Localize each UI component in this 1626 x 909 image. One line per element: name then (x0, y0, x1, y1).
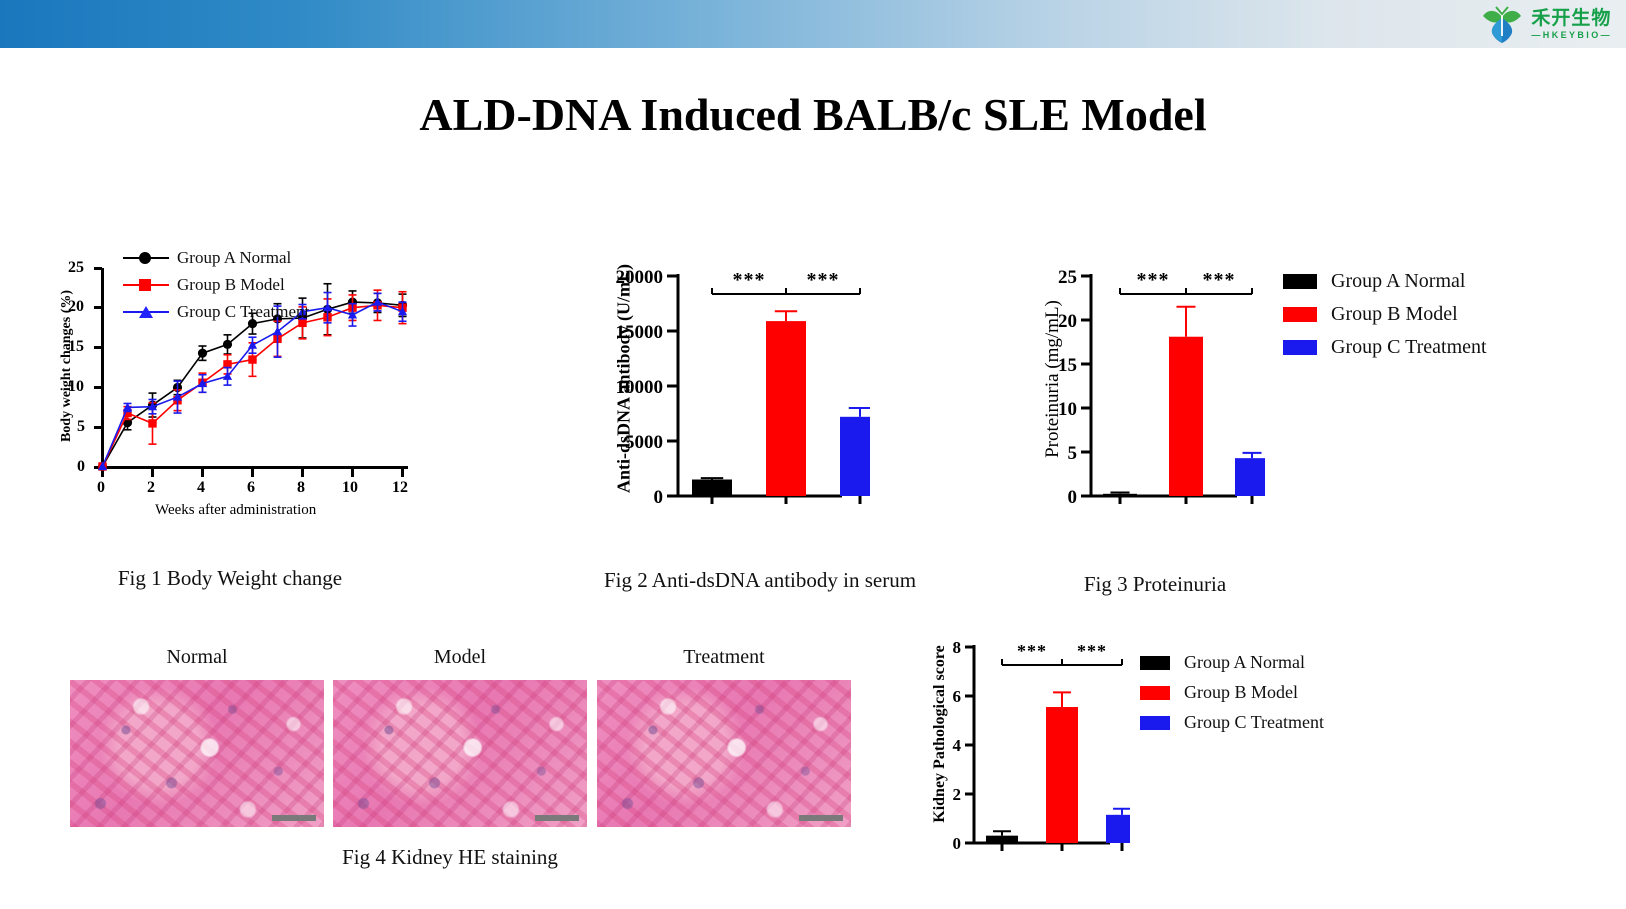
histology-label-model: Model (333, 646, 587, 669)
page-title: ALD-DNA Induced BALB/c SLE Model (0, 88, 1626, 141)
fig3-legend-swatch-red (1283, 307, 1317, 322)
histology-image-treatment (597, 680, 851, 827)
figure-4-kidney-score: Kidney Pathological score 02468****** (900, 615, 1130, 875)
company-logo: 禾开生物 —HKEYBIO— (1481, 4, 1612, 44)
figure-2-caption: Fig 2 Anti-dsDNA antibody in serum (560, 568, 960, 593)
svg-text:***: *** (807, 269, 840, 291)
svg-text:0: 0 (953, 834, 962, 853)
fig1-legend-key-square (123, 278, 169, 292)
fig3-legend-swatch-blue (1283, 340, 1317, 355)
svg-text:6: 6 (953, 687, 962, 706)
logo-chinese-name: 禾开生物 (1531, 9, 1612, 28)
fig1-legend: Group A Normal Group B Model Group C Tre… (123, 248, 309, 329)
svg-text:20: 20 (1058, 311, 1077, 332)
scale-bar (535, 815, 579, 821)
fig1-legend-key-circle (123, 251, 169, 265)
scale-bar (799, 815, 843, 821)
histology-image-model (333, 680, 587, 827)
histology-image-normal (70, 680, 324, 827)
figure-1-body-weight: Body weight changes (%) 0 5 10 15 20 25 … (35, 240, 455, 530)
figure-1-caption: Fig 1 Body Weight change (70, 566, 390, 591)
fig4-legend-item-group-c: Group C Treatment (1140, 712, 1324, 733)
fig3-plot-area: 0510152025****** (1015, 250, 1265, 525)
fig4-legend-swatch-black (1140, 656, 1170, 670)
svg-text:***: *** (733, 269, 766, 291)
svg-text:15000: 15000 (616, 322, 664, 343)
scale-bar (272, 815, 316, 821)
histology-label-treatment: Treatment (597, 646, 851, 669)
svg-text:4: 4 (953, 736, 962, 755)
figure-4-caption: Fig 4 Kidney HE staining (300, 845, 600, 870)
fig1-legend-item-group-b: Group B Model (123, 275, 309, 295)
fig1-legend-item-group-c: Group C Treatment (123, 302, 309, 322)
figure-3-proteinuria: Proteinuria (mg/mL) 0510152025****** (1015, 250, 1265, 525)
fig1-legend-label-group-a: Group A Normal (177, 248, 291, 268)
svg-text:***: *** (1137, 269, 1170, 291)
svg-text:20000: 20000 (616, 267, 664, 288)
figure-2-anti-dsdna: Anti-dsDNA antibody (U/mL) 0500010000150… (580, 250, 870, 525)
fig3-legend-item-group-a: Group A Normal (1283, 270, 1487, 293)
fig3-legend-label-group-a: Group A Normal (1331, 270, 1465, 293)
svg-text:***: *** (1203, 269, 1236, 291)
fig3-legend-item-group-c: Group C Treatment (1283, 336, 1487, 359)
svg-text:***: *** (1017, 641, 1047, 661)
histology-label-normal: Normal (70, 646, 324, 669)
svg-text:25: 25 (1058, 267, 1077, 288)
fig4-legend-label-group-c: Group C Treatment (1184, 712, 1324, 733)
figure-3-caption: Fig 3 Proteinuria (1025, 572, 1285, 597)
fig3-legend-label-group-c: Group C Treatment (1331, 336, 1487, 359)
fig4-legend-swatch-blue (1140, 716, 1170, 730)
svg-text:10: 10 (1058, 399, 1077, 420)
logo-english-name: —HKEYBIO— (1531, 31, 1612, 40)
fig4-legend-swatch-red (1140, 686, 1170, 700)
fig4-legend-label-group-a: Group A Normal (1184, 652, 1305, 673)
fig1-legend-label-group-b: Group B Model (177, 275, 285, 295)
figure-4-legend: Group A Normal Group B Model Group C Tre… (1140, 652, 1324, 743)
fig2-plot-area: 05000100001500020000****** (580, 250, 870, 525)
fig3-legend-item-group-b: Group B Model (1283, 303, 1487, 326)
fig3-legend-label-group-b: Group B Model (1331, 303, 1458, 326)
svg-text:2: 2 (953, 785, 962, 804)
svg-text:8: 8 (953, 638, 962, 657)
header-banner: 禾开生物 —HKEYBIO— (0, 0, 1626, 48)
svg-text:5: 5 (1068, 443, 1078, 464)
svg-text:10000: 10000 (616, 377, 664, 398)
svg-text:0: 0 (654, 487, 664, 508)
fig4-plot-area: 02468****** (900, 615, 1130, 875)
fig4-legend-label-group-b: Group B Model (1184, 682, 1298, 703)
fig1-legend-item-group-a: Group A Normal (123, 248, 309, 268)
svg-text:***: *** (1077, 641, 1107, 661)
fig1-legend-key-triangle (123, 305, 169, 319)
svg-text:15: 15 (1058, 355, 1077, 376)
fig4-legend-item-group-a: Group A Normal (1140, 652, 1324, 673)
fig3-legend-swatch-black (1283, 274, 1317, 289)
svg-text:5000: 5000 (625, 432, 663, 453)
svg-text:0: 0 (1068, 487, 1078, 508)
leaf-droplet-icon (1481, 4, 1523, 44)
fig1-legend-label-group-c: Group C Treatment (177, 302, 309, 322)
fig4-legend-item-group-b: Group B Model (1140, 682, 1324, 703)
figure-3-legend: Group A Normal Group B Model Group C Tre… (1283, 270, 1487, 369)
